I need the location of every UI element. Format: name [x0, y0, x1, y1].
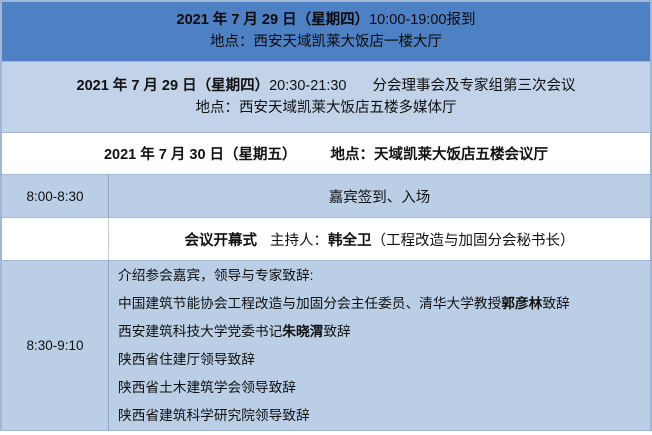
introductions-line: 陕西省住建厅领导致辞: [118, 346, 255, 374]
checkin-weekday: （星期四）: [297, 12, 370, 28]
conference-agenda-table: 2021 年 7 月 29 日（星期四）10:00-19:00报到 地点：西安天…: [0, 0, 652, 435]
opening-content: 会议开幕式主持人：韩全卫（工程改造与加固分会秘书长）: [109, 218, 650, 260]
introductions-time: 8:30-9:10: [2, 261, 109, 430]
introductions-line: 介绍参会嘉宾，领导与专家致辞:: [118, 262, 313, 290]
agenda-row-introductions: 8:30-9:10 介绍参会嘉宾，领导与专家致辞: 中国建筑节能协会工程改造与加…: [0, 261, 652, 431]
introductions-line-text: 陕西省土木建筑学会领导致辞: [118, 380, 296, 395]
introductions-line-bold-name: 朱晓渭: [282, 324, 323, 339]
introductions-line-text: 西安建筑科技大学党委书记: [118, 324, 282, 339]
checkin-date: 2021 年 7 月 29 日: [177, 12, 297, 28]
checkin-banner-line-2: 地点：西安天域凯莱大饭店一楼大厅: [210, 32, 442, 53]
introductions-line: 陕西省建筑科学研究院领导致辞: [118, 402, 310, 430]
opening-host-label: 主持人：: [270, 229, 328, 250]
agenda-row-checkin-banner: 2021 年 7 月 29 日（星期四）10:00-19:00报到 地点：西安天…: [0, 0, 652, 62]
signin-time: 8:00-8:30: [2, 175, 109, 217]
council-time: 20:30-21:30: [269, 78, 346, 94]
introductions-line: 陕西省土木建筑学会领导致辞: [118, 374, 296, 402]
introductions-line-text: 陕西省建筑科学研究院领导致辞: [118, 408, 310, 423]
introductions-line-bold-name: 郭彦林: [501, 296, 542, 311]
introductions-line-text: 介绍参会嘉宾，领导与专家致辞:: [118, 268, 313, 283]
checkin-time: 10:00-19:00: [369, 12, 446, 28]
checkin-activity: 报到: [447, 12, 476, 28]
opening-time-empty: [2, 218, 109, 260]
council-banner-line-1: 2021 年 7 月 29 日（星期四）20:30-21:30分会理事会及专家组…: [77, 75, 576, 97]
agenda-row-council-meeting-banner: 2021 年 7 月 29 日（星期四）20:30-21:30分会理事会及专家组…: [0, 62, 652, 133]
introductions-line-text: 陕西省住建厅领导致辞: [118, 352, 255, 367]
introductions-line-suffix: 致辞: [323, 324, 350, 339]
signin-content: 嘉宾签到、入场: [109, 175, 650, 217]
introductions-line: 中国建筑节能协会工程改造与加固分会主任委员、清华大学教授郭彦林致辞: [118, 290, 570, 318]
council-weekday: （星期四）: [197, 78, 270, 94]
agenda-row-opening-ceremony: 会议开幕式主持人：韩全卫（工程改造与加固分会秘书长）: [0, 218, 652, 261]
day2-venue: 地点：天域凯莱大饭店五楼会议厅: [331, 143, 549, 164]
opening-title: 会议开幕式: [185, 229, 258, 250]
introductions-line-suffix: 致辞: [542, 296, 569, 311]
agenda-row-signin: 8:00-8:30 嘉宾签到、入场: [0, 175, 652, 218]
opening-host-name: 韩全卫: [328, 229, 372, 250]
opening-host-title: （工程改造与加固分会秘书长）: [372, 229, 575, 250]
checkin-banner-line-1: 2021 年 7 月 29 日（星期四）10:00-19:00报到: [177, 10, 476, 31]
council-date: 2021 年 7 月 29 日: [77, 78, 197, 94]
council-banner-line-2: 地点：西安天域凯莱大饭店五楼多媒体厅: [196, 97, 457, 119]
introductions-line-text: 中国建筑节能协会工程改造与加固分会主任委员、清华大学教授: [118, 296, 501, 311]
agenda-row-day2-header: 2021 年 7 月 30 日（星期五） 地点：天域凯莱大饭店五楼会议厅: [0, 133, 652, 175]
day2-date: 2021 年 7 月 30 日（星期五）: [104, 143, 297, 164]
introductions-content: 介绍参会嘉宾，领导与专家致辞: 中国建筑节能协会工程改造与加固分会主任委员、清华…: [109, 261, 650, 430]
council-activity: 分会理事会及专家组第三次会议: [373, 78, 576, 94]
introductions-line: 西安建筑科技大学党委书记朱晓渭致辞: [118, 318, 351, 346]
